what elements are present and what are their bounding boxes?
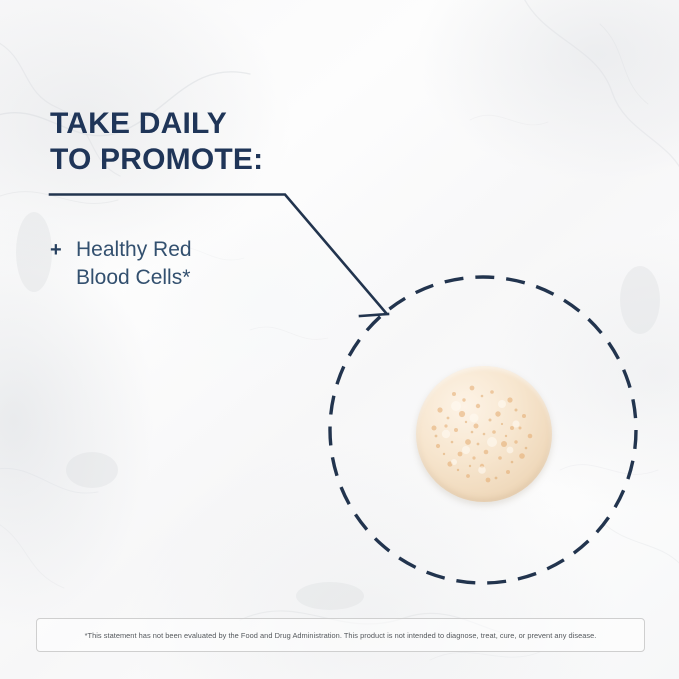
dashed-highlight-circle [0,0,679,679]
disclaimer-box: *This statement has not been evaluated b… [36,618,645,652]
tablet-speckle-texture [416,366,552,502]
supplement-tablet [416,366,552,502]
product-infographic: TAKE DAILYTO PROMOTE: + Healthy RedBlood… [0,0,679,679]
disclaimer-text: *This statement has not been evaluated b… [85,631,597,640]
